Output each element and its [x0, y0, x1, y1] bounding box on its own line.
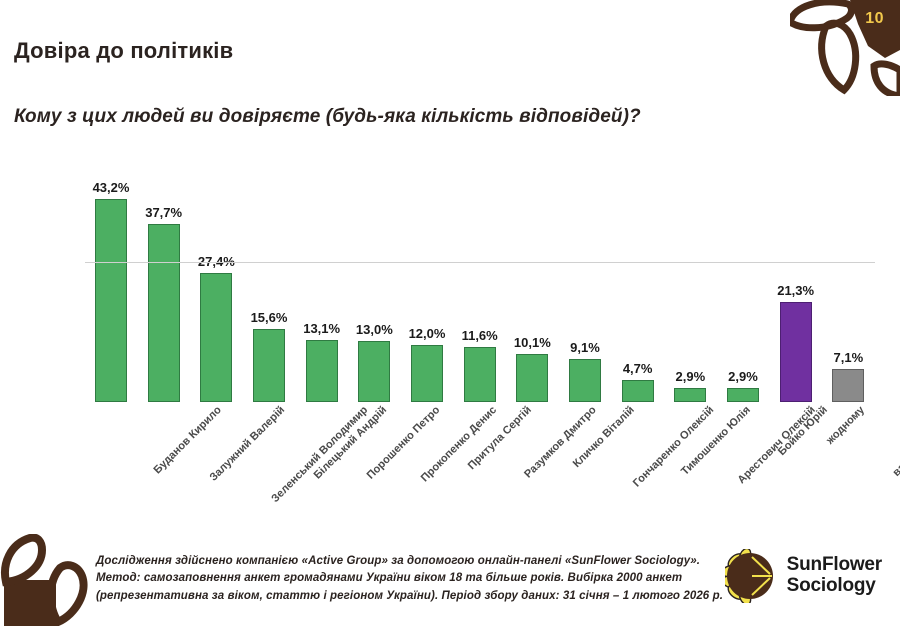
brand-name-line-1: SunFlower	[787, 555, 882, 576]
chart-bar[interactable]	[148, 224, 180, 402]
bar-value-label: 13,1%	[294, 321, 350, 336]
category-label: Буданов Кирило	[152, 404, 224, 476]
bar-value-label: 9,1%	[557, 340, 613, 355]
chart-category-labels: Буданов КирилоЗалужний ВалерійЗеленський…	[85, 404, 875, 514]
chart-plot-area: 43,2%37,7%27,4%15,6%13,1%13,0%12,0%11,6%…	[85, 140, 875, 402]
bar-slot: 10,1%	[506, 140, 559, 402]
bar-value-label: 12,0%	[399, 326, 455, 341]
sunflower-icon	[725, 549, 779, 603]
page-number: 10	[865, 10, 884, 28]
bar-slot: 9,1%	[559, 140, 612, 402]
chart-bar[interactable]	[569, 359, 601, 402]
bar-value-label: 7,1%	[820, 350, 876, 365]
category-label: Зеленський Володимир	[269, 404, 370, 505]
bar-value-label: 11,6%	[452, 328, 508, 343]
bar-slot: 11,6%	[454, 140, 507, 402]
bar-value-label: 43,2%	[83, 180, 139, 195]
chart-bar[interactable]	[727, 388, 759, 402]
chart-bar[interactable]	[411, 345, 443, 402]
chart-bar[interactable]	[358, 341, 390, 402]
page-title: Довіра до політиків	[14, 38, 233, 64]
bar-slot: 12,0%	[401, 140, 454, 402]
chart-bar[interactable]	[95, 199, 127, 402]
bar-slot: 4,7%	[612, 140, 665, 402]
bar-value-label: 2,9%	[662, 369, 718, 384]
methodology-line-3: (репрезентативна за віком, статтю і регі…	[96, 588, 726, 606]
bar-slot: 2,9%	[664, 140, 717, 402]
bar-value-label: 21,3%	[768, 283, 824, 298]
bar-slot: 7,1%	[822, 140, 875, 402]
bar-slot: 13,0%	[348, 140, 401, 402]
category-label: важко відповісти	[890, 404, 900, 479]
methodology-line-1: Дослідження здійснено компанією «Active …	[96, 553, 726, 571]
chart-bar[interactable]	[780, 302, 812, 402]
chart-bar[interactable]	[516, 354, 548, 402]
chart-baseline-axis	[85, 262, 875, 263]
category-label: Тимошенко Юлія	[679, 404, 753, 478]
methodology-line-2: Метод: самозаповнення анкет громадянами …	[96, 570, 726, 588]
bar-slot: 27,4%	[190, 140, 243, 402]
bar-value-label: 13,0%	[346, 322, 402, 337]
chart-bar[interactable]	[200, 273, 232, 402]
bar-slot: 15,6%	[243, 140, 296, 402]
chart-bar[interactable]	[253, 329, 285, 402]
corner-decoration-bottom-left	[0, 534, 100, 626]
bar-slot: 43,2%	[85, 140, 138, 402]
bar-value-label: 4,7%	[610, 361, 666, 376]
question-text: Кому з цих людей ви довіряєте (будь-яка …	[14, 106, 641, 128]
chart-bar[interactable]	[832, 369, 864, 402]
bar-value-label: 37,7%	[136, 205, 192, 220]
bar-chart: 43,2%37,7%27,4%15,6%13,1%13,0%12,0%11,6%…	[0, 140, 900, 405]
bar-value-label: 10,1%	[504, 335, 560, 350]
bar-value-label: 2,9%	[715, 369, 771, 384]
chart-bar[interactable]	[622, 380, 654, 402]
chart-bar[interactable]	[464, 347, 496, 402]
chart-bar[interactable]	[306, 340, 338, 402]
methodology-note: Дослідження здійснено компанією «Active …	[96, 553, 726, 606]
category-label: Разумков Дмитро	[522, 404, 599, 481]
bar-slot: 2,9%	[717, 140, 770, 402]
chart-bar[interactable]	[674, 388, 706, 402]
brand-name-line-2: Sociology	[787, 576, 882, 597]
bar-slot: 37,7%	[138, 140, 191, 402]
bar-value-label: 15,6%	[241, 310, 297, 325]
category-label: Притула Сергій	[466, 404, 534, 472]
bar-slot: 21,3%	[770, 140, 823, 402]
category-label: жодному	[824, 404, 867, 447]
sunflower-sociology-logo: SunFlower Sociology	[725, 548, 882, 604]
brand-name: SunFlower Sociology	[787, 555, 882, 596]
bar-slot: 13,1%	[296, 140, 349, 402]
